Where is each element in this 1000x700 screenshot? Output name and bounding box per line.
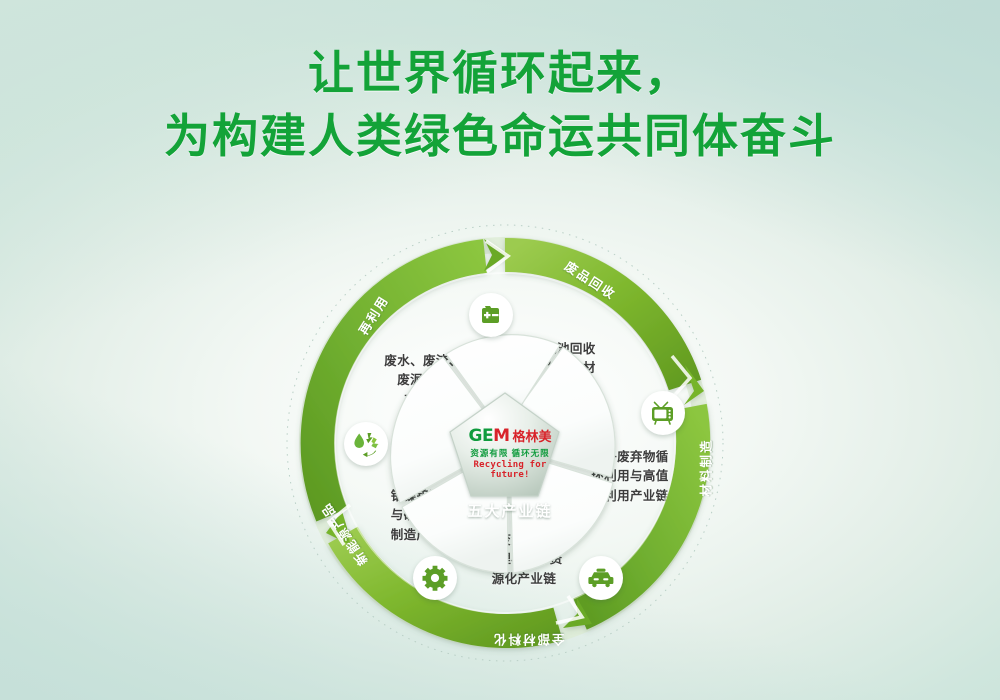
gem-latin-m: M <box>493 426 509 446</box>
gem-slogan-en: Recycling for future! <box>452 460 568 480</box>
gem-brand-row: GEM 格林美 <box>452 428 568 445</box>
five-industry-chains-caption: 五大产业链 <box>452 500 568 521</box>
television-icon <box>650 401 676 425</box>
gem-latin-mark: GEM <box>468 428 509 445</box>
car-icon <box>587 568 615 588</box>
battery-icon-badge <box>469 293 513 337</box>
page-title-line-2: 为构建人类绿色命运共同体奋斗 <box>0 105 1000 168</box>
gem-latin-ge: GE <box>468 426 493 446</box>
recycle-drop-icon <box>352 431 380 457</box>
page-title-line-1: 让世界循环起来， <box>0 42 1000 105</box>
gem-slogan-cn: 资源有限 循环无限 <box>452 447 568 459</box>
gear-icon <box>422 565 448 591</box>
ring-label-material-manufacturing: 材料制造 <box>696 438 715 496</box>
recycle-drop-icon-badge <box>344 422 388 466</box>
ring-label-full-materialization: 全部材料化 <box>492 631 565 650</box>
battery-icon <box>478 304 504 326</box>
gear-icon-badge <box>413 556 457 600</box>
gem-center-logo: GEM 格林美 资源有限 循环无限 Recycling for future! … <box>452 428 568 521</box>
gem-chinese-name: 格林美 <box>512 430 551 443</box>
car-icon-badge <box>579 556 623 600</box>
television-icon-badge <box>641 391 685 435</box>
page-title: 让世界循环起来， 为构建人类绿色命运共同体奋斗 <box>0 42 1000 169</box>
